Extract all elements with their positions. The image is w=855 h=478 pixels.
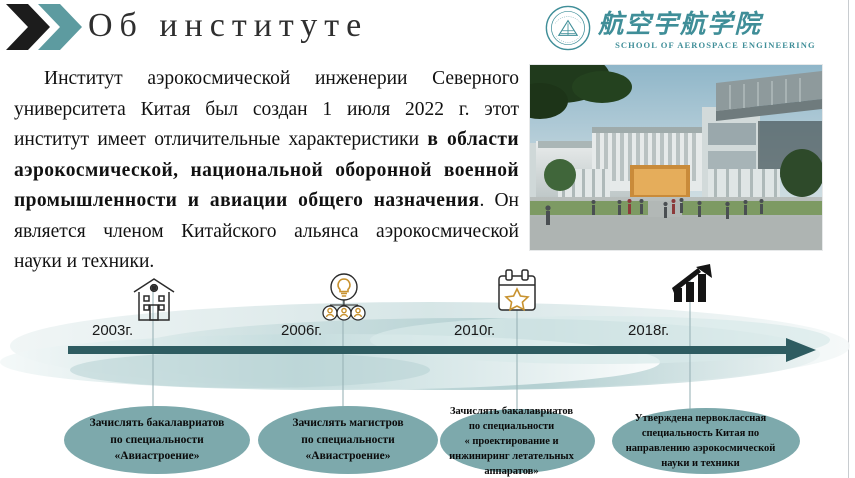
milestone-icon-2003 (131, 276, 177, 329)
timeline-stage: 2003г. 2006г. 2010г. 2018г. Зачислять ба… (0, 258, 855, 478)
idea-team-icon (320, 272, 368, 322)
logo-chinese-name-icon: 航空宇航学院 (598, 7, 833, 39)
milestone-caption-2006: Зачислять магистров по специальности «Ав… (258, 406, 438, 474)
caption-line: по специальности (432, 419, 591, 434)
milestone-icon-2018 (668, 262, 716, 313)
slide-root: Об институте 航空宇航学院 SCHOOL OF AEROSPACE … (0, 0, 855, 478)
growth-chart-icon (668, 262, 716, 308)
caption-line: направлению аэрокосмической (605, 441, 796, 456)
caption-line: Зачислять бакалавриатов (68, 415, 246, 432)
caption-line: по специальности (262, 432, 434, 449)
milestone-caption-2018: Утверждена первоклассная специальность К… (612, 408, 800, 474)
page-title: Об институте (88, 2, 368, 50)
caption-text-block: Зачислять бакалавриатов по специальности… (64, 415, 250, 465)
milestone-caption-2010: Зачислять бакалавриатов по специальности… (440, 409, 595, 473)
caption-line: Утверждена первоклассная (605, 411, 796, 426)
logo-chinese-name: 航空宇航学院 (598, 9, 764, 38)
slide-header: Об институте 航空宇航学院 SCHOOL OF AEROSPACE … (0, 0, 855, 58)
campus-building-render-image (530, 65, 822, 250)
caption-line: специальность Китая по (605, 426, 796, 441)
year-label-2018: 2018г. (628, 322, 669, 339)
caption-line: Зачислять бакалавриатов (432, 404, 591, 419)
logo-text-block: 航空宇航学院 SCHOOL OF AEROSPACE ENGINEERING (598, 7, 833, 50)
caption-text-block: Утверждена первоклассная специальность К… (601, 411, 800, 471)
milestone-icon-2010 (494, 268, 540, 321)
campus-building-photo (529, 64, 823, 251)
caption-line: Зачислять магистров (262, 415, 434, 432)
caption-line: науки и техники (605, 456, 796, 471)
caption-line: инжиниринг летательных (432, 449, 591, 464)
year-label-2010: 2010г. (454, 322, 495, 339)
milestone-icon-2006 (320, 272, 368, 327)
caption-line: аппаратов» (432, 464, 591, 478)
caption-line: «Авиастроение» (68, 448, 246, 465)
caption-text-block: Зачислять магистров по специальности «Ав… (258, 415, 438, 465)
year-label-2003: 2003г. (92, 322, 133, 339)
calendar-star-icon (494, 268, 540, 316)
caption-line: по специальности (68, 432, 246, 449)
chevron-logo-group (4, 2, 88, 52)
year-label-2006: 2006г. (281, 322, 322, 339)
caption-line: «Авиастроение» (262, 448, 434, 465)
school-building-icon (131, 276, 177, 324)
milestone-caption-2003: Зачислять бакалавриатов по специальности… (64, 406, 250, 474)
university-logo: 航空宇航学院 SCHOOL OF AEROSPACE ENGINEERING (545, 3, 833, 53)
caption-line: « проектирование и (432, 434, 591, 449)
chevron-right-black-icon (6, 4, 50, 50)
caption-text-block: Зачислять бакалавриатов по специальности… (428, 404, 595, 478)
about-paragraph: Институт аэрокосмической инженерии Север… (14, 64, 519, 278)
timeline-axis-bar (68, 346, 794, 354)
logo-english-name: SCHOOL OF AEROSPACE ENGINEERING (615, 40, 816, 50)
university-seal-emblem-icon (545, 5, 591, 51)
